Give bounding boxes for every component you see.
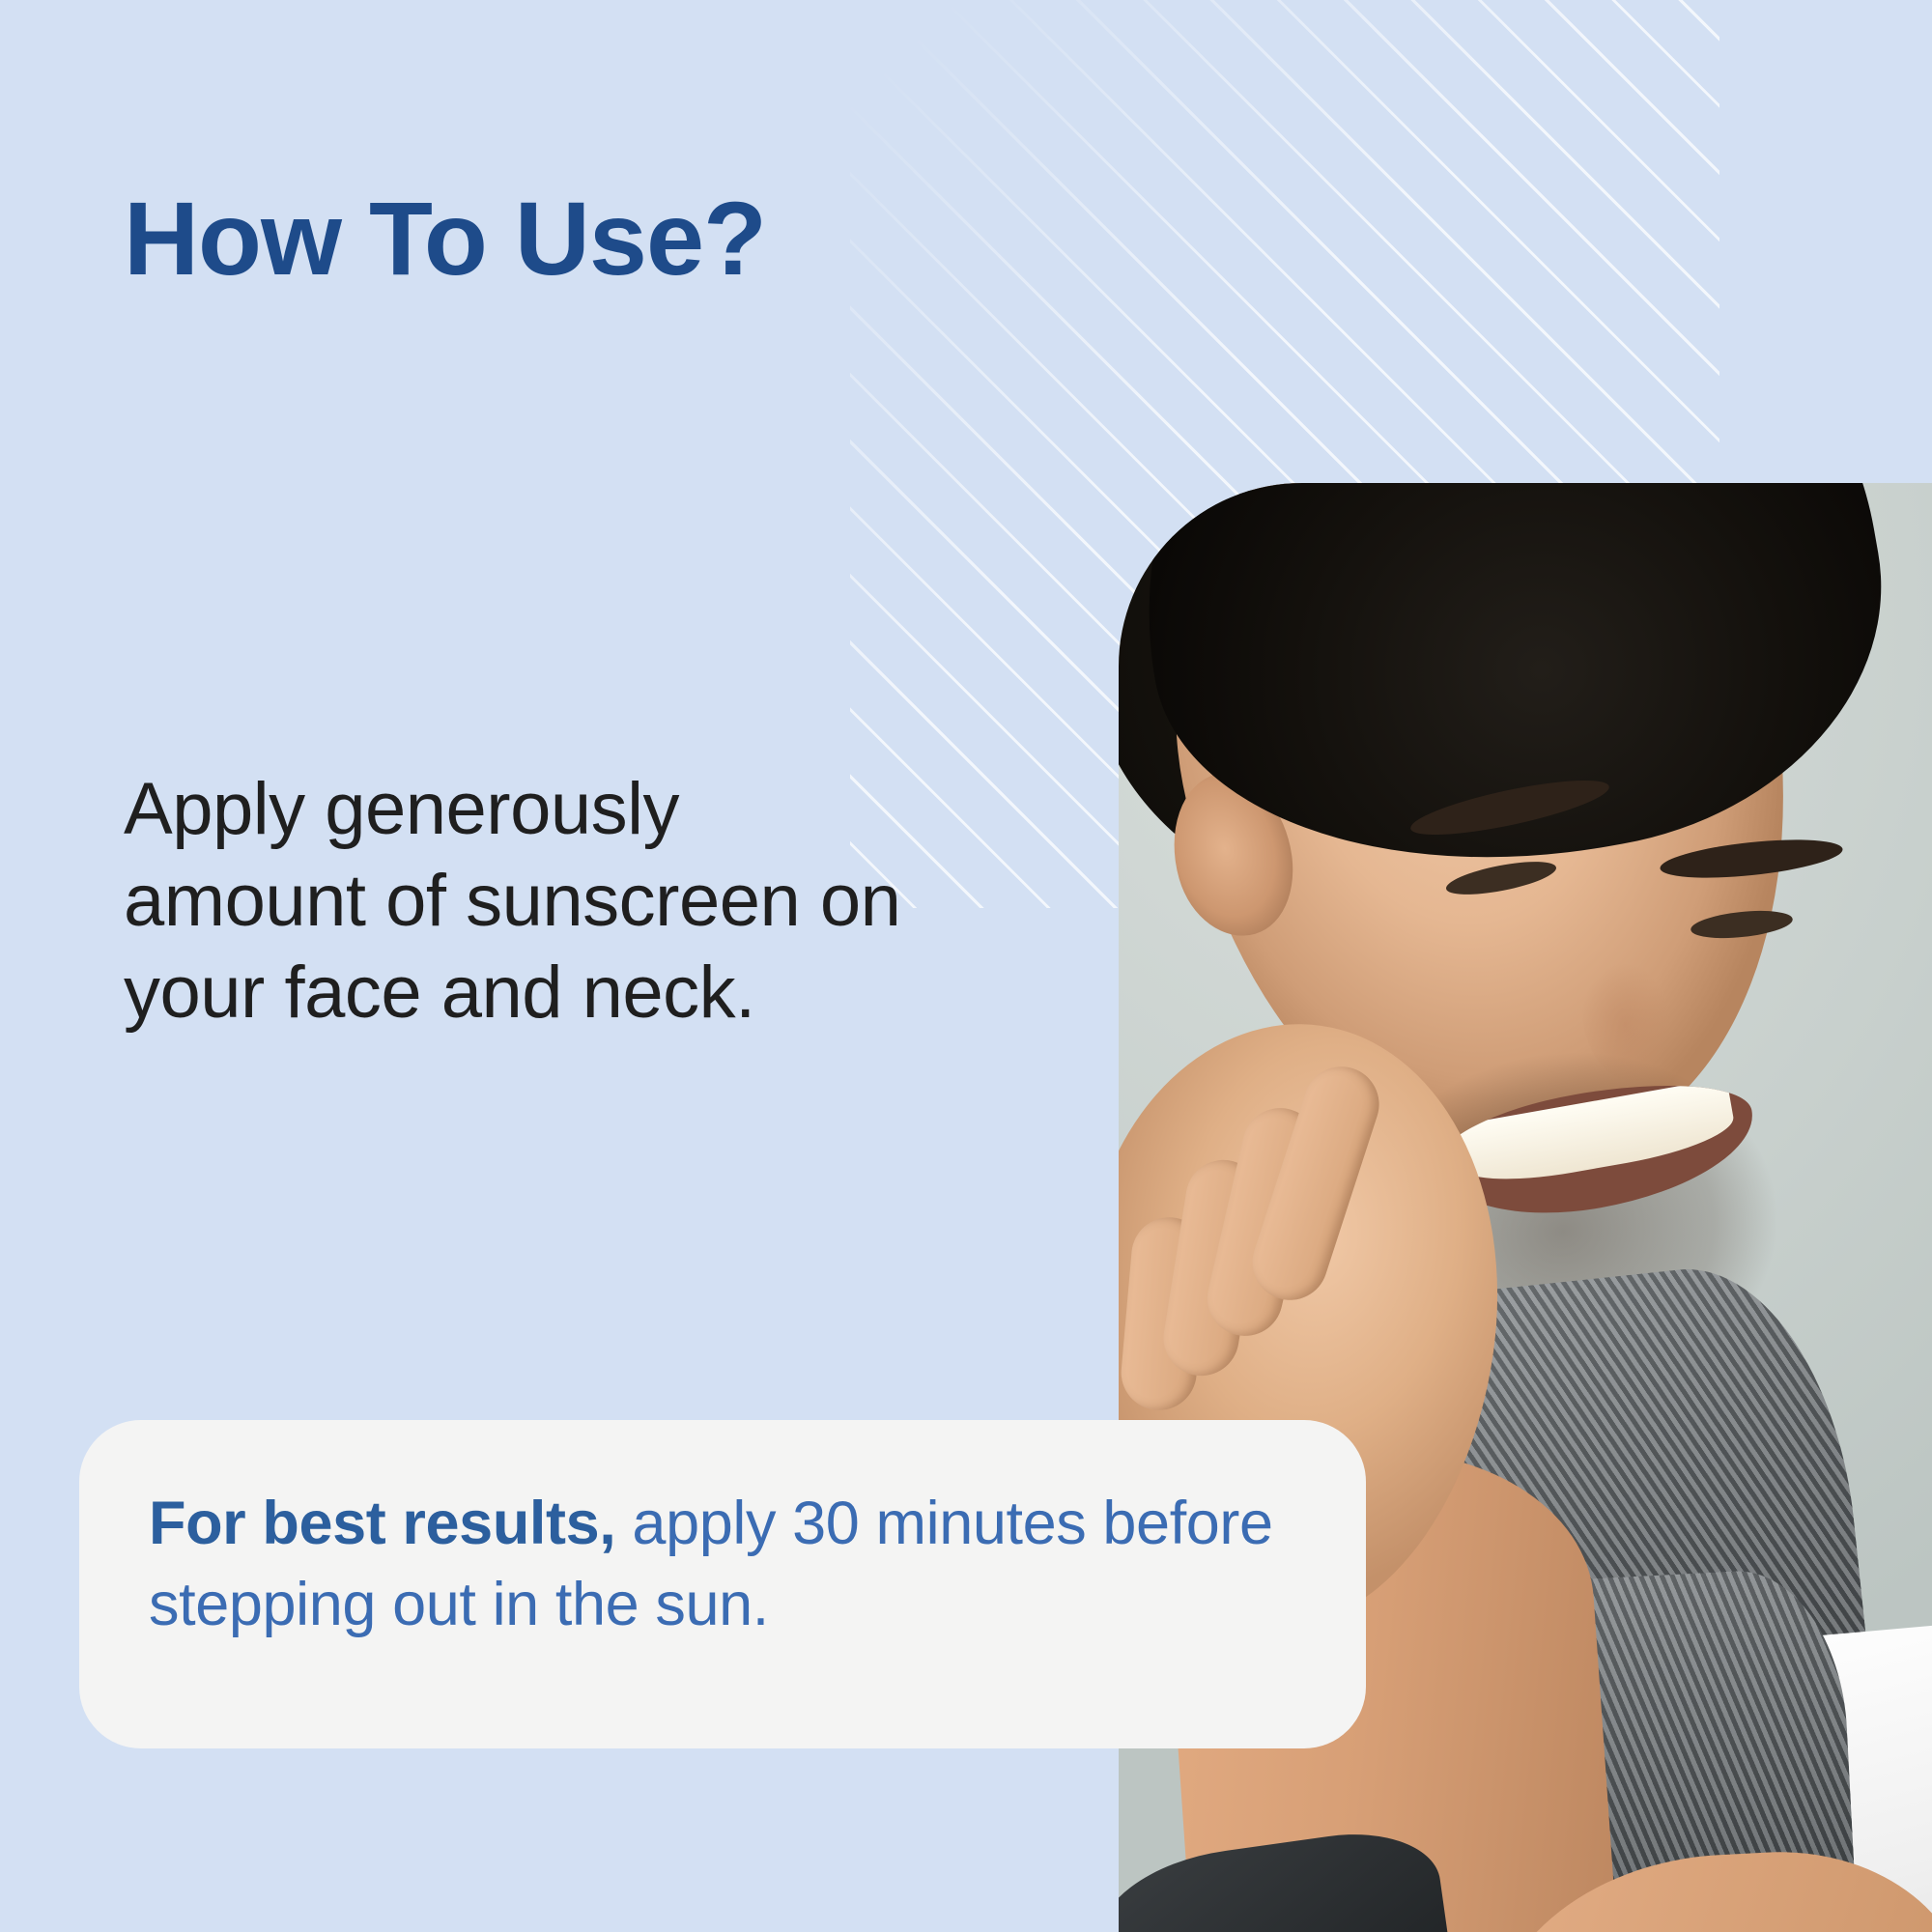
page-title: How To Use? [124, 182, 766, 297]
note-text: For best results, apply 30 minutes befor… [149, 1484, 1289, 1646]
best-results-note-card: For best results, apply 30 minutes befor… [79, 1420, 1366, 1748]
note-lead-text: For best results, [149, 1490, 615, 1557]
poster-canvas: How To Use? Apply generously amount of s… [0, 0, 1932, 1932]
instruction-text: Apply generously amount of sunscreen on … [124, 763, 935, 1038]
